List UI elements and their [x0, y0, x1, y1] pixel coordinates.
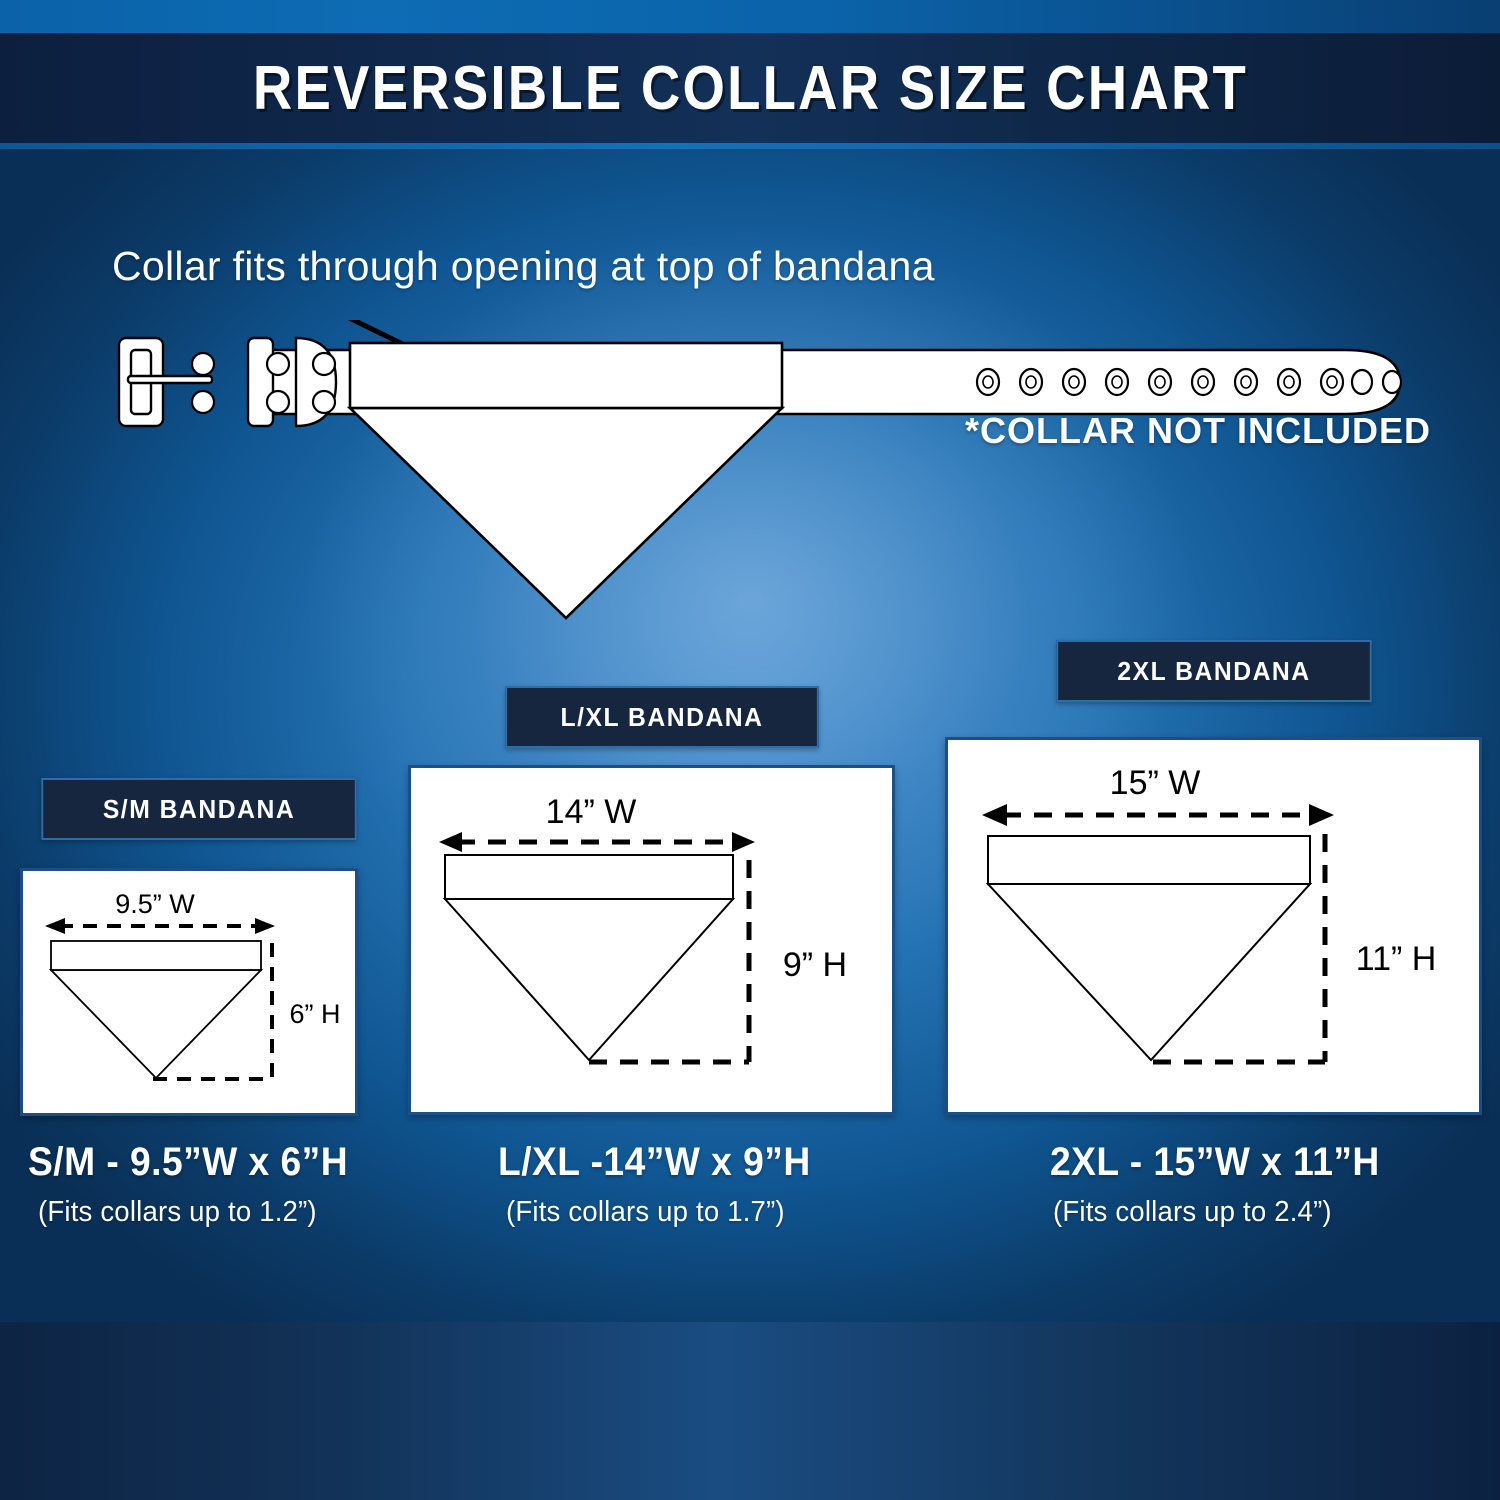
badge-2xl: 2XL BANDANA — [1056, 640, 1371, 702]
top-edge-strip — [0, 0, 1500, 33]
caption-sub-2xl: (Fits collars up to 2.4”) — [1053, 1196, 1332, 1229]
size-chart-page: REVERSIBLE COLLAR SIZE CHART Collar fits… — [0, 0, 1500, 1500]
width-label-2xl: 15” W — [1110, 764, 1201, 802]
panel-sm: 9.5” W 6” H — [20, 868, 358, 1116]
bandana-outline-lxl — [445, 855, 733, 1060]
bandana-shape — [350, 343, 782, 618]
collar-diagram-svg — [100, 320, 1410, 620]
caption-sub-sm: (Fits collars up to 1.2”) — [38, 1196, 317, 1229]
caption-lxl: L/XL -14”W x 9”H — [498, 1140, 811, 1185]
width-label-lxl: 14” W — [546, 793, 637, 831]
width-dimension-lxl — [439, 832, 755, 852]
page-title: REVERSIBLE COLLAR SIZE CHART — [252, 53, 1247, 124]
height-label-lxl: 9” H — [783, 946, 847, 984]
caption-2xl: 2XL - 15”W x 11”H — [1050, 1140, 1380, 1185]
bandana-outline-2xl — [988, 836, 1310, 1060]
width-dimension-2xl — [982, 804, 1334, 826]
height-label-2xl: 11” H — [1356, 940, 1437, 978]
badge-lxl: L/XL BANDANA — [505, 686, 819, 748]
width-dimension-sm — [45, 918, 275, 934]
panel-lxl: 14” W 9” H — [408, 765, 895, 1115]
footer-band: Pets First MADE FROM DURABLE FABRICS DES… — [0, 1322, 1500, 1500]
caption-sm: S/M - 9.5”W x 6”H — [28, 1140, 348, 1185]
height-label-sm: 6” H — [289, 999, 340, 1029]
badge-sm: S/M BANDANA — [41, 778, 356, 840]
panel-2xl: 15” W 11” H — [945, 737, 1482, 1115]
bandana-diagram-2xl: 15” W 11” H — [948, 740, 1479, 1112]
collar-buckle — [119, 338, 336, 426]
header-band: REVERSIBLE COLLAR SIZE CHART — [0, 33, 1500, 143]
bandana-outline-sm — [51, 941, 261, 1078]
collar-not-included-note: *COLLAR NOT INCLUDED — [965, 410, 1431, 452]
caption-sub-lxl: (Fits collars up to 1.7”) — [506, 1196, 785, 1229]
bandana-diagram-sm: 9.5” W 6” H — [23, 871, 355, 1113]
bandana-diagram-lxl: 14” W 9” H — [411, 768, 892, 1112]
width-label-sm: 9.5” W — [115, 889, 195, 919]
bandana-sleeve-opening — [350, 343, 782, 408]
collar-opening-note: Collar fits through opening at top of ba… — [112, 243, 1292, 290]
header-underline — [0, 143, 1500, 149]
collar-bandana-illustration — [100, 320, 1410, 620]
